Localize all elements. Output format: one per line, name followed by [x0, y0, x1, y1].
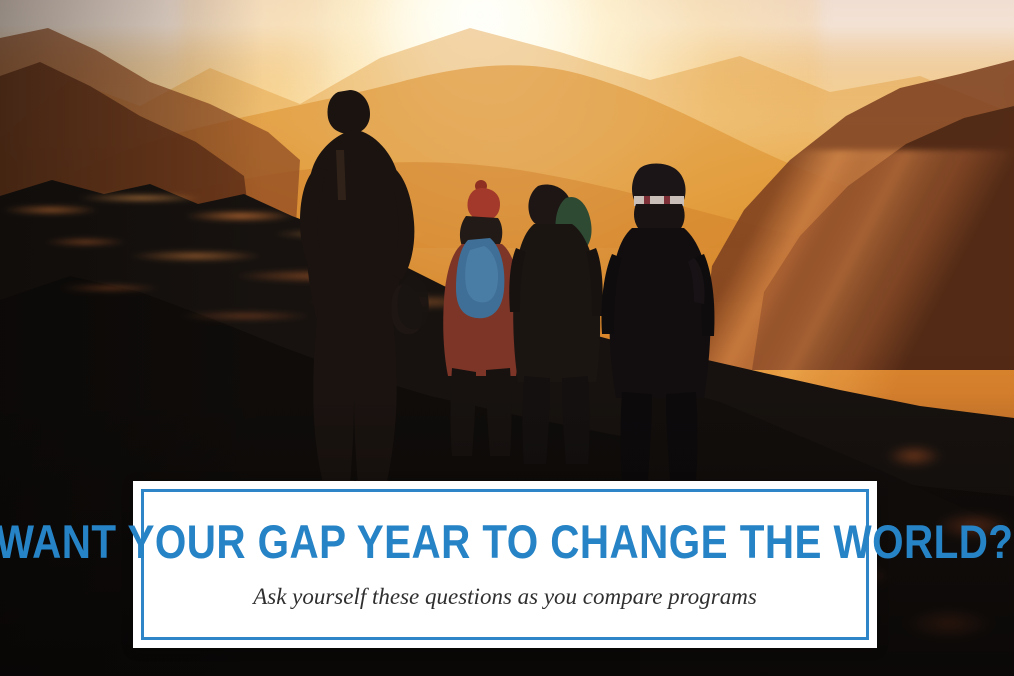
headline-card: Want Your Gap Year To Change The World? …	[133, 481, 877, 648]
hero-banner: Want Your Gap Year To Change The World? …	[0, 0, 1014, 676]
headline-card-border: Want Your Gap Year To Change The World? …	[141, 489, 869, 640]
page-title: Want Your Gap Year To Change The World?	[0, 518, 1014, 565]
page-subtitle: Ask yourself these questions as you comp…	[253, 583, 757, 611]
